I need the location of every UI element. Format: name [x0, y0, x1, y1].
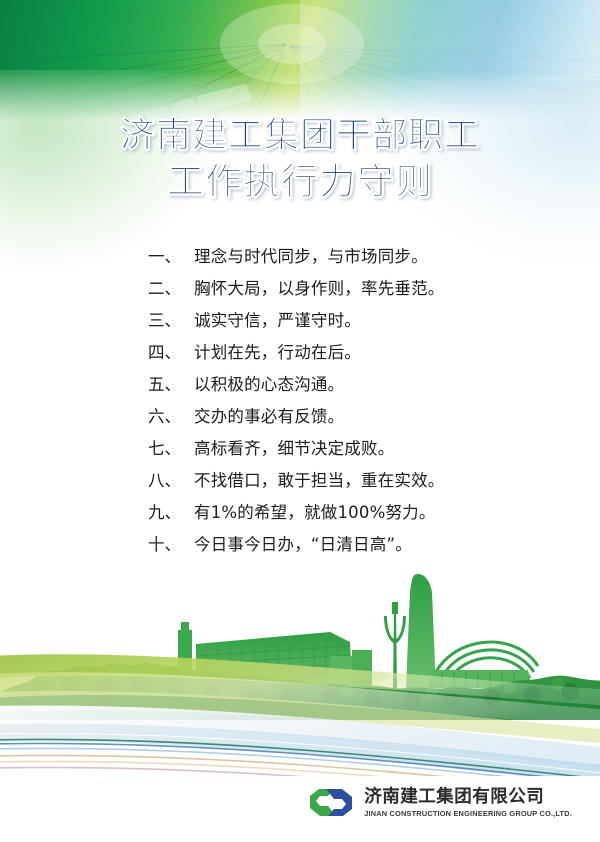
rule-item: 十、 今日事今日办，“日清日高”。 — [0, 531, 600, 563]
rule-item: 五、 以积极的心态沟通。 — [0, 371, 600, 403]
rule-item: 七、 高标看齐，细节决定成败。 — [0, 435, 600, 467]
interlocking-hexagon-icon — [308, 786, 354, 820]
rule-number: 四、 — [148, 339, 194, 363]
rule-item: 三、 诚实守信，严谨守时。 — [0, 307, 600, 339]
header-bottom-fade — [0, 72, 600, 120]
company-name-cn: 济南建工集团有限公司 — [364, 788, 572, 807]
header-banner — [0, 0, 600, 120]
small-tower-cap — [181, 622, 189, 630]
rule-text: 诚实守信，严谨守时。 — [194, 307, 361, 331]
rule-text: 交办的事必有反馈。 — [194, 403, 344, 427]
poster-title: 济南建工集团干部职工 工作执行力守则 — [0, 118, 600, 202]
rule-text: 有1%的希望，就做100%努力。 — [194, 499, 436, 523]
rule-number: 三、 — [148, 307, 194, 331]
logo-text-block: 济南建工集团有限公司 JINAN CONSTRUCTION ENGINEERIN… — [364, 788, 572, 818]
rule-number: 一、 — [148, 243, 194, 267]
rule-item: 八、 不找借口，敢于担当，重在实效。 — [0, 467, 600, 499]
rule-number: 二、 — [148, 275, 194, 299]
rule-text: 高标看齐，细节决定成败。 — [194, 435, 394, 459]
rule-text: 胸怀大局，以身作则，率先垂范。 — [194, 275, 445, 299]
flowing-ribbon-graphic — [0, 644, 600, 804]
rule-text: 理念与时代同步，与市场同步。 — [194, 243, 428, 267]
rule-number: 六、 — [148, 403, 194, 427]
rule-text: 计划在先，行动在后。 — [194, 339, 361, 363]
rule-number: 五、 — [148, 371, 194, 395]
rule-text: 今日事今日办，“日清日高”。 — [194, 531, 412, 555]
rule-item: 一、 理念与时代同步，与市场同步。 — [0, 243, 600, 275]
rule-item: 九、 有1%的希望，就做100%努力。 — [0, 499, 600, 531]
rule-number: 九、 — [148, 499, 194, 523]
title-line-1: 济南建工集团干部职工 — [0, 118, 600, 156]
rule-number: 八、 — [148, 467, 194, 491]
rule-text: 以积极的心态沟通。 — [194, 371, 344, 395]
rules-list: 一、 理念与时代同步，与市场同步。 二、 胸怀大局，以身作则，率先垂范。 三、 … — [0, 243, 600, 563]
company-logo: 济南建工集团有限公司 JINAN CONSTRUCTION ENGINEERIN… — [308, 786, 572, 820]
rule-number: 十、 — [148, 531, 194, 555]
company-name-en: JINAN CONSTRUCTION ENGINEERING GROUP CO.… — [364, 809, 572, 818]
rule-text: 不找借口，敢于担当，重在实效。 — [194, 467, 445, 491]
rule-number: 七、 — [148, 435, 194, 459]
title-line-2: 工作执行力守则 — [0, 162, 600, 202]
rule-item: 二、 胸怀大局，以身作则，率先垂范。 — [0, 275, 600, 307]
rule-item: 六、 交办的事必有反馈。 — [0, 403, 600, 435]
mast-top — [392, 602, 398, 614]
poster-page: 济南建工集团干部职工 工作执行力守则 一、 理念与时代同步，与市场同步。 二、 … — [0, 0, 600, 842]
rule-item: 四、 计划在先，行动在后。 — [0, 339, 600, 371]
